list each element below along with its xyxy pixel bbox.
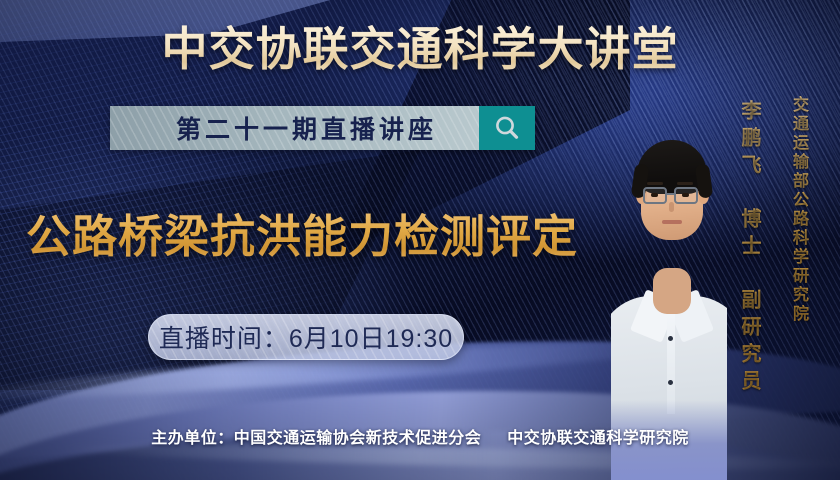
portrait-glasses-bridge — [666, 193, 675, 195]
portrait-nose — [669, 202, 674, 212]
search-icon[interactable] — [479, 106, 535, 150]
portrait-neck — [653, 268, 691, 314]
portrait-eye-right — [682, 193, 689, 197]
footer-org-2: 中交协联交通科学研究院 — [507, 430, 689, 447]
speaker-name-vertical: 李鹏飞 博士 副研究员 — [735, 100, 764, 397]
footer-prefix: 主办单位： — [151, 430, 234, 447]
subtitle-text: 第二十一期直播讲座 — [110, 106, 479, 150]
portrait-brow-right — [677, 182, 693, 185]
portrait-mouth — [662, 220, 682, 224]
subtitle-band: 第二十一期直播讲座 — [110, 106, 535, 150]
speaker-org-vertical: 交通运输部公路科学研究院 — [786, 96, 810, 324]
portrait-button-top — [668, 336, 673, 341]
footer-organizers: 主办单位：中国交通运输协会新技术促进分会中交协联交通科学研究院 — [0, 424, 840, 448]
footer-org-1: 中国交通运输协会新技术促进分会 — [234, 430, 482, 447]
webinar-poster: 中交协联交通科学大讲堂 第二十一期直播讲座 公路桥梁抗洪能力检测评定 直播时间：… — [0, 0, 840, 480]
portrait-placket — [667, 304, 675, 414]
portrait-brow-left — [647, 182, 663, 185]
portrait-button-bottom — [668, 380, 673, 385]
portrait-eye-left — [651, 193, 658, 197]
page-title: 中交协联交通科学大讲堂 — [0, 20, 840, 78]
lecture-headline: 公路桥梁抗洪能力检测评定 — [26, 208, 578, 266]
live-time-badge: 直播时间：6月10日19:30 — [148, 314, 464, 360]
